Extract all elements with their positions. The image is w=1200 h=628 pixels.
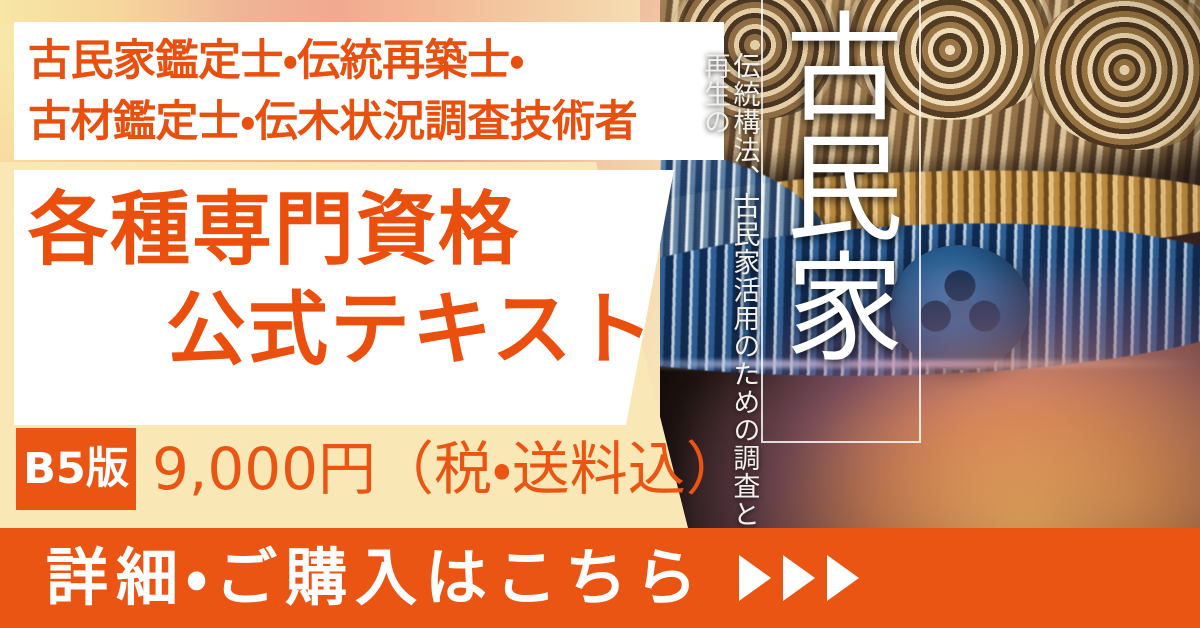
promo-banner: 古民家鑑定士・伝統再築士・ 古材鑑定士・伝木状況調査技術者 各種専門資格 公式テ…: [0, 0, 1200, 628]
book-cover-subtitle: 伝統構法、古民家活用のための調査と再生の: [700, 52, 758, 530]
certifications-line-2: 古材鑑定士・伝木状況調査技術者: [14, 92, 724, 153]
certifications-panel: 古民家鑑定士・伝統再築士・ 古材鑑定士・伝木状況調査技術者: [14, 22, 724, 160]
top-gradient-strip: [0, 0, 640, 24]
cta-bar[interactable]: 詳細・ご購入はこちら: [0, 528, 1200, 628]
main-title-line-2: 公式テキスト: [166, 290, 656, 370]
triangle-right-icon: [783, 555, 815, 601]
cta-arrow-group: [739, 555, 859, 601]
cta-label: 詳細・ご購入はこちら: [46, 547, 705, 609]
triangle-right-icon: [827, 555, 859, 601]
format-badge-label: B5版: [23, 448, 129, 491]
book-cover-title: 古民家: [775, 6, 903, 366]
price-text: 9,000円（税・送料込）: [152, 432, 744, 507]
main-title-line-1: 各種専門資格: [28, 190, 520, 270]
triangle-right-icon: [739, 555, 771, 601]
format-badge: B5版: [16, 428, 136, 510]
certifications-line-1: 古民家鑑定士・伝統再築士・: [14, 22, 724, 92]
